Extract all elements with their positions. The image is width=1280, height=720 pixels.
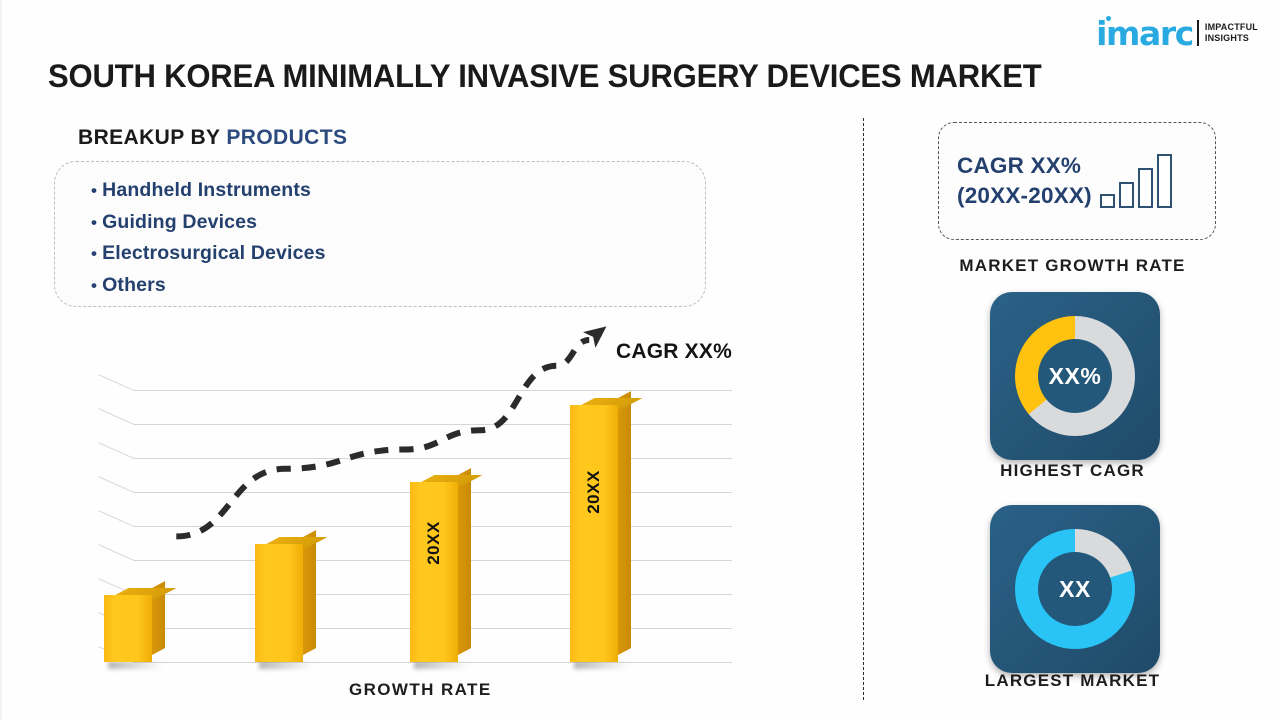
bar-front-face bbox=[570, 405, 618, 662]
logo-wordmark: imarc bbox=[1096, 17, 1193, 50]
growth-rate-bar-chart: 20XX20XX bbox=[62, 330, 762, 675]
bar bbox=[104, 595, 152, 662]
chart-cagr-label: CAGR XX% bbox=[616, 340, 732, 364]
largest-market-donut: XX bbox=[1015, 529, 1135, 649]
bar-front-face bbox=[410, 482, 458, 662]
products-list-box: •Handheld Instruments •Guiding Devices •… bbox=[54, 161, 706, 307]
bar-side-face bbox=[458, 468, 471, 655]
logo-tagline: IMPACTFUL INSIGHTS bbox=[1205, 22, 1258, 44]
bullet-icon: • bbox=[91, 244, 102, 263]
market-growth-rate-label: MARKET GROWTH RATE bbox=[863, 256, 1280, 276]
bar-chart-icon-bar-2 bbox=[1119, 182, 1134, 208]
bar-front-face bbox=[104, 595, 152, 662]
bar-shadow bbox=[414, 661, 468, 669]
bar bbox=[255, 544, 303, 662]
bar: 20XX bbox=[410, 482, 458, 662]
list-item: •Electrosurgical Devices bbox=[91, 238, 705, 270]
list-item-label: Others bbox=[102, 274, 166, 296]
bar-chart-icon-bar-1 bbox=[1100, 194, 1115, 208]
page-title: SOUTH KOREA MINIMALLY INVASIVE SURGERY D… bbox=[48, 58, 1041, 95]
bar-side-face bbox=[618, 391, 631, 655]
list-item-label: Handheld Instruments bbox=[102, 179, 311, 201]
bullet-icon: • bbox=[91, 276, 102, 295]
largest-market-label: LARGEST MARKET bbox=[863, 671, 1280, 691]
chart-x-axis-label: GROWTH RATE bbox=[349, 680, 492, 700]
cagr-value: CAGR XX% bbox=[957, 151, 1092, 181]
bar-chart-icon-bar-3 bbox=[1138, 168, 1153, 208]
market-growth-rate-box: CAGR XX% (20XX-20XX) bbox=[938, 122, 1216, 240]
bullet-icon: • bbox=[91, 213, 102, 232]
section-divider bbox=[863, 118, 864, 700]
logo-dot-icon bbox=[1106, 16, 1111, 21]
bar-chart-icon-bar-4 bbox=[1157, 154, 1172, 208]
trendline-path bbox=[176, 340, 589, 536]
list-item-label: Guiding Devices bbox=[102, 211, 257, 233]
largest-market-value: XX bbox=[1015, 529, 1135, 649]
bar-label: 20XX bbox=[424, 521, 444, 565]
cagr-period: (20XX-20XX) bbox=[957, 181, 1092, 211]
logo-divider bbox=[1197, 20, 1199, 46]
list-item: •Guiding Devices bbox=[91, 207, 705, 239]
bullet-icon: • bbox=[91, 181, 102, 200]
bar-shadow bbox=[108, 661, 162, 669]
infographic-page: imarc IMPACTFUL INSIGHTS SOUTH KOREA MIN… bbox=[0, 0, 1280, 720]
breakup-heading-highlight: PRODUCTS bbox=[226, 126, 347, 149]
cagr-text: CAGR XX% (20XX-20XX) bbox=[957, 151, 1092, 211]
breakup-heading: BREAKUP BY PRODUCTS bbox=[78, 126, 347, 150]
list-item-label: Electrosurgical Devices bbox=[102, 242, 325, 264]
bar-label: 20XX bbox=[584, 471, 604, 515]
imarc-logo: imarc IMPACTFUL INSIGHTS bbox=[1096, 16, 1258, 50]
bar-shadow bbox=[574, 661, 628, 669]
breakup-heading-prefix: BREAKUP BY bbox=[78, 126, 220, 149]
largest-market-card: XX bbox=[990, 505, 1160, 673]
list-item: •Handheld Instruments bbox=[91, 175, 705, 207]
logo-tagline-line1: IMPACTFUL bbox=[1205, 22, 1258, 33]
bar: 20XX bbox=[570, 405, 618, 662]
bar-front-face bbox=[255, 544, 303, 662]
highest-cagr-value: XX% bbox=[1015, 316, 1135, 436]
highest-cagr-label: HIGHEST CAGR bbox=[863, 461, 1280, 481]
trendline-arrowhead bbox=[583, 319, 613, 348]
bar-shadow bbox=[259, 661, 313, 669]
highest-cagr-card: XX% bbox=[990, 292, 1160, 460]
highest-cagr-donut: XX% bbox=[1015, 316, 1135, 436]
logo-tagline-line2: INSIGHTS bbox=[1205, 33, 1258, 44]
bar-chart-icon bbox=[1100, 154, 1172, 208]
list-item: •Others bbox=[91, 270, 705, 302]
